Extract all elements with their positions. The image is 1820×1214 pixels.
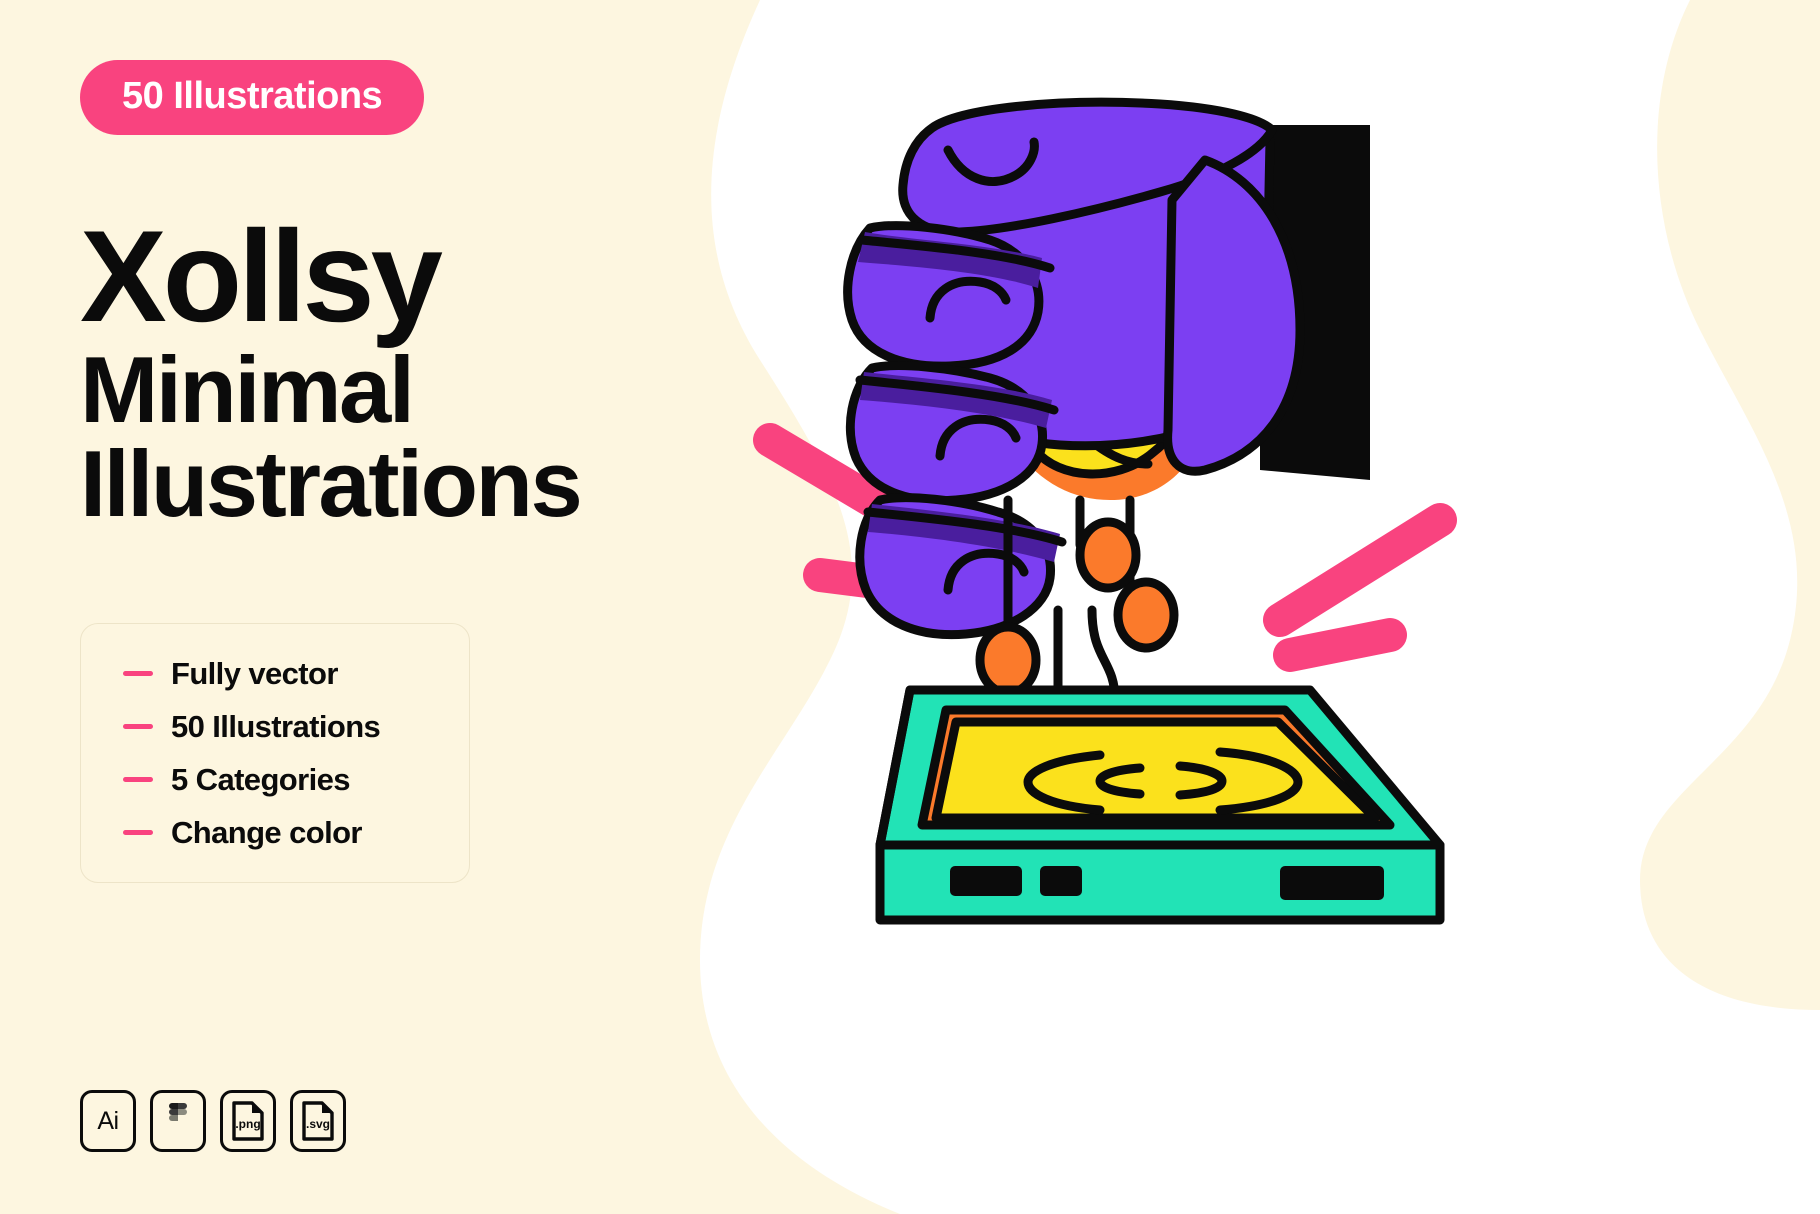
hero-illustration <box>660 0 1820 1214</box>
title-line-2: Minimal <box>80 343 640 437</box>
format-badge-figma <box>150 1090 206 1152</box>
feature-label: Fully vector <box>171 658 338 689</box>
feature-label: 5 Categories <box>171 764 350 795</box>
adobe-illustrator-icon: Ai <box>97 1107 118 1136</box>
dash-icon <box>123 671 153 676</box>
dash-icon <box>123 777 153 782</box>
feature-label: Change color <box>171 817 362 848</box>
list-item: 5 Categories <box>123 764 469 795</box>
format-label-svg: .svg <box>306 1117 330 1131</box>
motion-lines-right <box>1280 520 1440 655</box>
poster-canvas: 50 Illustrations Xollsy Minimal Illustra… <box>0 0 1820 1214</box>
teal-tablet <box>880 690 1440 920</box>
illustration-count-badge: 50 Illustrations <box>80 60 424 135</box>
file-svg-icon: .svg <box>304 1103 332 1139</box>
title-line-3: Illustrations <box>80 437 640 531</box>
file-format-badges: Ai .png <box>80 1090 346 1152</box>
list-item: 50 Illustrations <box>123 711 469 742</box>
device-button-wide <box>950 866 1022 896</box>
feature-list-card: Fully vector 50 Illustrations 5 Categori… <box>80 623 470 883</box>
brand-name: Xollsy <box>80 217 640 337</box>
format-label-png: .png <box>235 1117 260 1131</box>
feature-label: 50 Illustrations <box>171 711 380 742</box>
file-png-icon: .png <box>234 1103 262 1139</box>
format-badge-png: .png <box>220 1090 276 1152</box>
list-item: Change color <box>123 817 469 848</box>
purple-hand <box>848 102 1300 634</box>
dash-icon <box>123 724 153 729</box>
page-title: Xollsy Minimal Illustrations <box>80 217 640 531</box>
device-button-small <box>1040 866 1082 896</box>
device-button-right <box>1280 866 1384 900</box>
left-content-column: 50 Illustrations Xollsy Minimal Illustra… <box>80 60 640 883</box>
figma-icon <box>165 1103 191 1139</box>
dash-icon <box>123 830 153 835</box>
format-badge-ai: Ai <box>80 1090 136 1152</box>
format-badge-svg: .svg <box>290 1090 346 1152</box>
list-item: Fully vector <box>123 658 469 689</box>
